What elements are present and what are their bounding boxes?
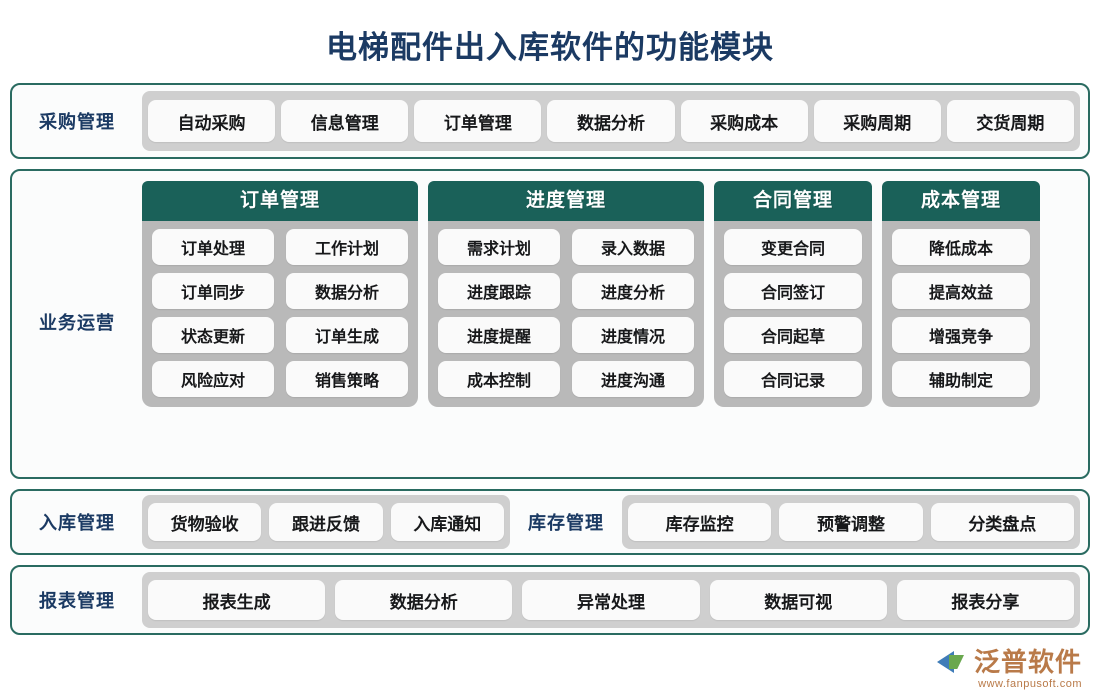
- module-pill[interactable]: 自动采购: [148, 100, 275, 142]
- brand-name: 泛普软件: [974, 649, 1082, 675]
- module-pill[interactable]: 变更合同: [724, 229, 862, 265]
- module-pill[interactable]: 工作计划: [286, 229, 408, 265]
- section-operations: 业务运营 订单管理 订单处理 工作计划 订单同步 数据分析 状态更新 订单生成 …: [10, 169, 1090, 479]
- page-root: 电梯配件出入库软件的功能模块 采购管理 自动采购 信息管理 订单管理 数据分析 …: [0, 0, 1100, 700]
- card-header: 订单管理: [142, 181, 418, 221]
- module-pill[interactable]: 合同记录: [724, 361, 862, 397]
- card-header: 成本管理: [882, 181, 1040, 221]
- module-pill[interactable]: 入库通知: [391, 503, 504, 541]
- card-body: 降低成本 提高效益 增强竞争 辅助制定: [882, 221, 1040, 407]
- module-pill[interactable]: 分类盘点: [931, 503, 1074, 541]
- card-contract-management: 合同管理 变更合同 合同签订 合同起草 合同记录: [714, 181, 872, 407]
- module-pill[interactable]: 增强竞争: [892, 317, 1030, 353]
- module-pill[interactable]: 辅助制定: [892, 361, 1030, 397]
- module-pill[interactable]: 状态更新: [152, 317, 274, 353]
- module-pill[interactable]: 交货周期: [947, 100, 1074, 142]
- section-reports: 报表管理 报表生成 数据分析 异常处理 数据可视 报表分享: [10, 565, 1090, 635]
- brand-logo: 泛普软件 www.fanpusoft.com: [937, 649, 1082, 690]
- card-order-management: 订单管理 订单处理 工作计划 订单同步 数据分析 状态更新 订单生成 风险应对 …: [142, 181, 418, 407]
- module-pill[interactable]: 降低成本: [892, 229, 1030, 265]
- module-pill[interactable]: 采购成本: [681, 100, 808, 142]
- section-label-inventory: 库存管理: [510, 509, 622, 535]
- operations-cards: 订单管理 订单处理 工作计划 订单同步 数据分析 状态更新 订单生成 风险应对 …: [142, 181, 1074, 463]
- module-pill[interactable]: 预警调整: [779, 503, 922, 541]
- card-cost-management: 成本管理 降低成本 提高效益 增强竞争 辅助制定: [882, 181, 1040, 407]
- section-label-procurement: 采购管理: [12, 108, 142, 134]
- module-pill[interactable]: 数据可视: [710, 580, 887, 620]
- module-pill[interactable]: 数据分析: [286, 273, 408, 309]
- fanpu-logo-icon: [937, 649, 969, 675]
- module-pill[interactable]: 报表分享: [897, 580, 1074, 620]
- module-pill[interactable]: 订单生成: [286, 317, 408, 353]
- module-pill[interactable]: 跟进反馈: [269, 503, 382, 541]
- section-label-operations: 业务运营: [39, 309, 115, 335]
- module-pill[interactable]: 报表生成: [148, 580, 325, 620]
- module-pill[interactable]: 销售策略: [286, 361, 408, 397]
- module-pill[interactable]: 需求计划: [438, 229, 560, 265]
- module-pill[interactable]: 货物验收: [148, 503, 261, 541]
- card-header: 合同管理: [714, 181, 872, 221]
- module-pill[interactable]: 进度沟通: [572, 361, 694, 397]
- card-body: 需求计划 录入数据 进度跟踪 进度分析 进度提醒 进度情况 成本控制 进度沟通: [428, 221, 704, 407]
- section-procurement: 采购管理 自动采购 信息管理 订单管理 数据分析 采购成本 采购周期 交货周期: [10, 83, 1090, 159]
- module-pill[interactable]: 订单同步: [152, 273, 274, 309]
- inbound-tray: 货物验收 跟进反馈 入库通知: [142, 495, 510, 549]
- card-body: 变更合同 合同签订 合同起草 合同记录: [714, 221, 872, 407]
- section-label-operations-wrap: 业务运营: [12, 181, 142, 463]
- section-storage: 入库管理 货物验收 跟进反馈 入库通知 库存管理 库存监控 预警调整 分类盘点: [10, 489, 1090, 555]
- card-body: 订单处理 工作计划 订单同步 数据分析 状态更新 订单生成 风险应对 销售策略: [142, 221, 418, 407]
- brand-url: www.fanpusoft.com: [978, 678, 1082, 690]
- module-pill[interactable]: 进度提醒: [438, 317, 560, 353]
- module-pill[interactable]: 进度情况: [572, 317, 694, 353]
- module-pill[interactable]: 数据分析: [547, 100, 674, 142]
- procurement-tray: 自动采购 信息管理 订单管理 数据分析 采购成本 采购周期 交货周期: [142, 91, 1080, 151]
- module-pill[interactable]: 进度跟踪: [438, 273, 560, 309]
- module-pill[interactable]: 订单处理: [152, 229, 274, 265]
- module-pill[interactable]: 合同签订: [724, 273, 862, 309]
- section-label-reports: 报表管理: [12, 587, 142, 613]
- module-pill[interactable]: 进度分析: [572, 273, 694, 309]
- page-title: 电梯配件出入库软件的功能模块: [10, 0, 1090, 83]
- module-pill[interactable]: 成本控制: [438, 361, 560, 397]
- card-progress-management: 进度管理 需求计划 录入数据 进度跟踪 进度分析 进度提醒 进度情况 成本控制 …: [428, 181, 704, 407]
- module-pill[interactable]: 采购周期: [814, 100, 941, 142]
- inventory-tray: 库存监控 预警调整 分类盘点: [622, 495, 1080, 549]
- module-pill[interactable]: 数据分析: [335, 580, 512, 620]
- section-label-inbound: 入库管理: [12, 509, 142, 535]
- module-pill[interactable]: 风险应对: [152, 361, 274, 397]
- module-pill[interactable]: 库存监控: [628, 503, 771, 541]
- module-pill[interactable]: 订单管理: [414, 100, 541, 142]
- module-pill[interactable]: 异常处理: [522, 580, 699, 620]
- reports-tray: 报表生成 数据分析 异常处理 数据可视 报表分享: [142, 572, 1080, 628]
- module-pill[interactable]: 录入数据: [572, 229, 694, 265]
- module-pill[interactable]: 提高效益: [892, 273, 1030, 309]
- card-header: 进度管理: [428, 181, 704, 221]
- module-pill[interactable]: 信息管理: [281, 100, 408, 142]
- module-pill[interactable]: 合同起草: [724, 317, 862, 353]
